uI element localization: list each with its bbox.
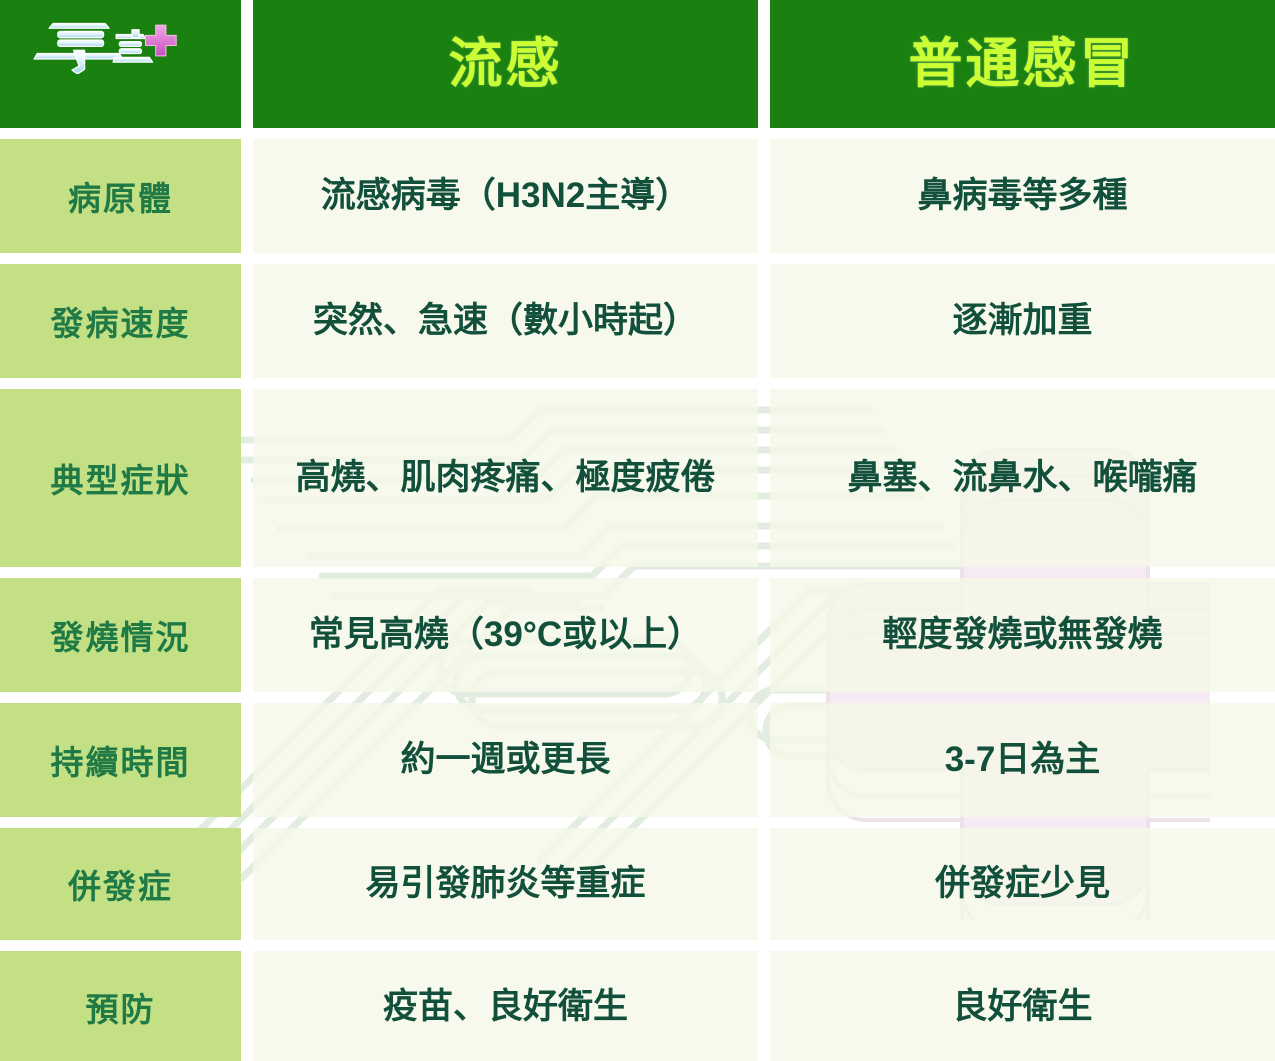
- row-flu-cell: 流感病毒（H3N2主導）: [253, 139, 758, 253]
- brand-logo-icon: [22, 14, 182, 74]
- table-row: 預防 疫苗、良好衛生 良好衛生: [0, 951, 1275, 1061]
- row-flu-cell: 易引發肺炎等重症: [253, 828, 758, 940]
- table-row: 發燒情況 常見高燒（39°C或以上） 輕度發燒或無發燒: [0, 578, 1275, 692]
- row-cold-cell: 3-7日為主: [770, 703, 1275, 817]
- header-column-cold: 普通感冒: [770, 0, 1275, 128]
- table-row: 發病速度 突然、急速（數小時起） 逐漸加重: [0, 264, 1275, 378]
- row-flu-cell: 約一週或更長: [253, 703, 758, 817]
- row-label-cell: 發燒情況: [0, 578, 241, 692]
- row-flu-cell: 高燒、肌肉疼痛、極度疲倦: [253, 389, 758, 567]
- row-flu-cell: 疫苗、良好衛生: [253, 951, 758, 1061]
- row-cold-cell: 逐漸加重: [770, 264, 1275, 378]
- row-cold-cell: 鼻塞、流鼻水、喉嚨痛: [770, 389, 1275, 567]
- row-flu-cell: 突然、急速（數小時起）: [253, 264, 758, 378]
- row-label-cell: 預防: [0, 951, 241, 1061]
- flu-vs-cold-comparison-table: 流感 普通感冒 病原體 流感病毒（H3N2主導） 鼻病毒等多種 發病速度 突然、…: [0, 0, 1275, 1061]
- table-body: 病原體 流感病毒（H3N2主導） 鼻病毒等多種 發病速度 突然、急速（數小時起）…: [0, 128, 1275, 1061]
- table-row: 持續時間 約一週或更長 3-7日為主: [0, 703, 1275, 817]
- row-label-cell: 病原體: [0, 139, 241, 253]
- row-label-cell: 併發症: [0, 828, 241, 940]
- row-label-cell: 發病速度: [0, 264, 241, 378]
- row-label-cell: 典型症狀: [0, 389, 241, 567]
- header-column-cold-label: 普通感冒: [909, 37, 1137, 91]
- row-cold-cell: 良好衛生: [770, 951, 1275, 1061]
- row-cold-cell: 鼻病毒等多種: [770, 139, 1275, 253]
- table-header-row: 流感 普通感冒: [0, 0, 1275, 128]
- header-logo-cell: [0, 0, 241, 128]
- row-cold-cell: 輕度發燒或無發燒: [770, 578, 1275, 692]
- table-row: 併發症 易引發肺炎等重症 併發症少見: [0, 828, 1275, 940]
- table-row: 典型症狀 高燒、肌肉疼痛、極度疲倦 鼻塞、流鼻水、喉嚨痛: [0, 389, 1275, 567]
- row-flu-cell: 常見高燒（39°C或以上）: [253, 578, 758, 692]
- row-label-cell: 持續時間: [0, 703, 241, 817]
- header-column-flu: 流感: [253, 0, 758, 128]
- row-cold-cell: 併發症少見: [770, 828, 1275, 940]
- table-row: 病原體 流感病毒（H3N2主導） 鼻病毒等多種: [0, 139, 1275, 253]
- header-column-flu-label: 流感: [449, 37, 563, 91]
